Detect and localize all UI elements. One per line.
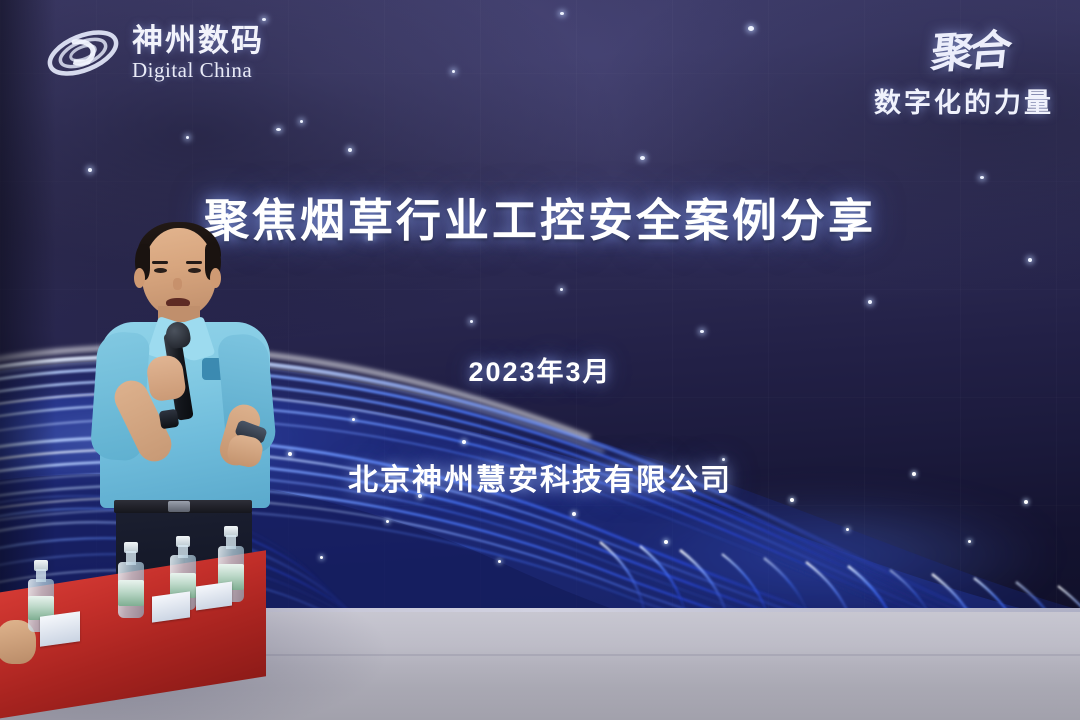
light-particle: [664, 540, 668, 544]
speaker-ear-left: [134, 268, 145, 288]
light-particle: [846, 528, 849, 531]
light-particle: [968, 540, 971, 543]
speaker-eyebrow-left: [152, 261, 168, 264]
light-particle: [498, 560, 501, 563]
star-dot: [300, 120, 303, 123]
light-particle: [1024, 500, 1028, 504]
star-dot: [748, 26, 754, 31]
star-dot: [980, 176, 984, 179]
event-calligraphy: 聚合: [928, 16, 1011, 81]
light-particle: [386, 520, 389, 523]
brand-name-cn: 神州数码: [132, 25, 264, 56]
star-dot: [640, 156, 645, 160]
name-card: [40, 611, 80, 647]
event-identity-mark: 聚合 数字化的力量: [874, 18, 1054, 120]
star-dot: [560, 12, 564, 15]
speaker-eye-left: [154, 268, 167, 273]
light-particle: [572, 512, 576, 516]
star-dot: [1028, 258, 1032, 262]
stage-left-shadow: [0, 0, 56, 614]
digital-china-brand-logo: 神州数码 Digital China: [44, 22, 264, 84]
light-particle: [462, 440, 466, 444]
speaker-nose: [173, 278, 182, 290]
light-particle: [320, 556, 323, 559]
star-dot: [262, 18, 266, 21]
star-dot: [186, 136, 189, 139]
name-card: [196, 581, 232, 610]
star-dot: [276, 128, 281, 131]
conference-photo-scene: 神州数码 Digital China 聚合 数字化的力量 聚焦烟草行业工控安全案…: [0, 0, 1080, 720]
event-subtitle: 数字化的力量: [874, 81, 1054, 120]
speaker-belt-buckle: [168, 501, 190, 512]
speaker-eyebrow-right: [186, 261, 202, 264]
speaker-ear-right: [210, 268, 221, 288]
light-particle: [352, 418, 355, 421]
name-card: [152, 591, 190, 622]
star-dot: [88, 168, 92, 172]
speaker-eye-right: [188, 268, 201, 273]
star-dot: [452, 70, 455, 73]
digital-china-spiral-logo-icon: [44, 22, 122, 84]
brand-text-block: 神州数码 Digital China: [132, 25, 264, 81]
water-bottle: [118, 542, 144, 618]
brand-name-en: Digital China: [132, 60, 264, 81]
star-dot: [348, 148, 352, 152]
microphone-base: [159, 409, 180, 430]
